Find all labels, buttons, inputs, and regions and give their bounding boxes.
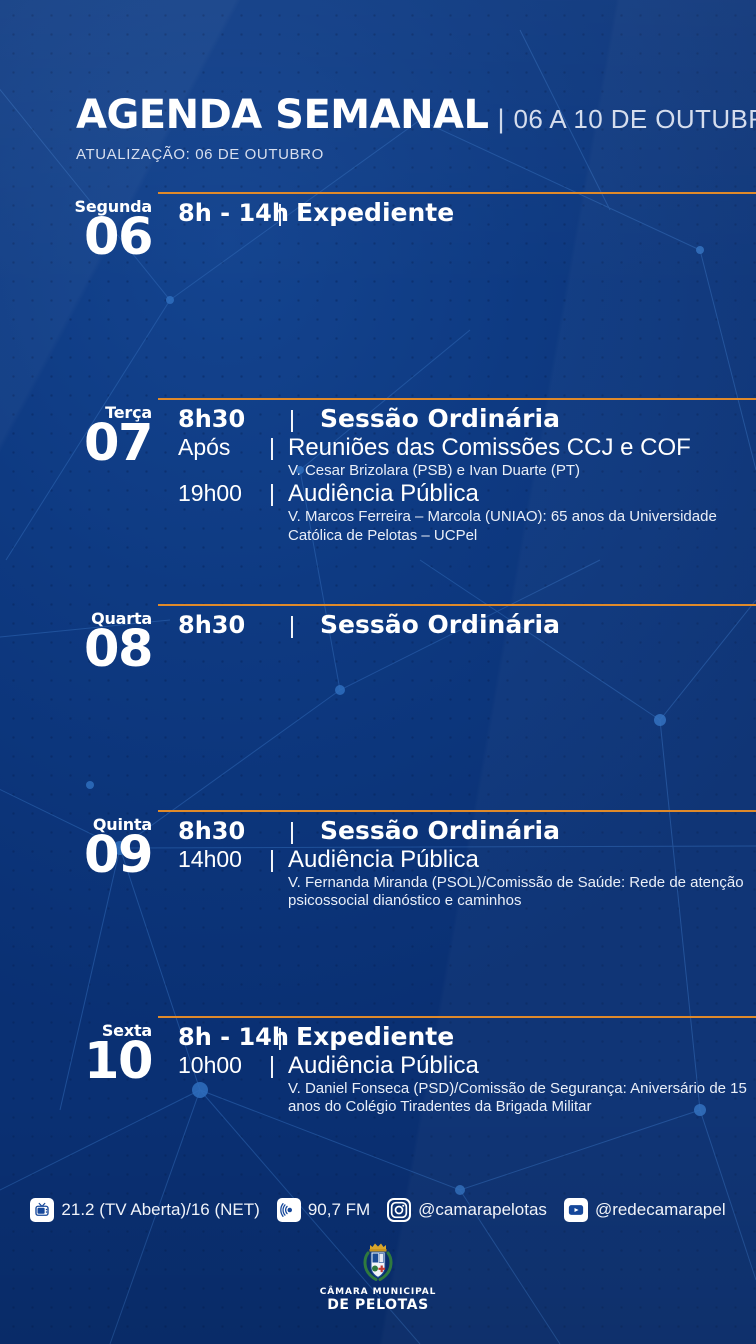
event-time: 8h - 14h	[178, 1023, 264, 1051]
event-note: V. Daniel Fonseca (PSD)/Comissão de Segu…	[288, 1080, 752, 1117]
event-time: 10h00	[178, 1052, 256, 1079]
brand-line-1: CÂMARA MUNICIPAL	[320, 1287, 437, 1297]
day-events: 8h - 14h|Expediente	[178, 198, 752, 228]
event-item: 8h - 14h|Expediente	[178, 198, 752, 228]
event-time: 8h - 14h	[178, 199, 264, 227]
brand-block: CÂMARA MUNICIPAL DE PELOTAS	[0, 1240, 756, 1313]
event-title: Expediente	[296, 198, 454, 228]
event-item: 14h00|Audiência Pública	[178, 846, 752, 874]
row-divider	[158, 810, 756, 812]
day-number: 10	[0, 1038, 152, 1086]
event-item: Após|Reuniões das Comissões CCJ e COF	[178, 434, 752, 462]
event-time: 19h00	[178, 480, 256, 507]
social-label: @redecamarapel	[595, 1200, 726, 1220]
header: AGENDA SEMANAL | 06 A 10 DE OUTUBRO | AT…	[76, 95, 756, 163]
event-separator: |	[256, 1052, 288, 1079]
event-item: 10h00|Audiência Pública	[178, 1052, 752, 1080]
brand-line-2: DE PELOTAS	[327, 1297, 429, 1313]
event-title: Expediente	[296, 1022, 454, 1052]
day-column: Quinta09	[0, 816, 152, 880]
pelotas-coat-of-arms-icon	[361, 1240, 395, 1284]
day-events: 8h30|Sessão Ordinária14h00|Audiência Púb…	[178, 816, 752, 910]
row-divider	[158, 1016, 756, 1018]
day-number: 08	[0, 626, 152, 674]
day-events: 8h30|Sessão OrdináriaApós|Reuniões das C…	[178, 404, 752, 545]
event-title: Audiência Pública	[288, 1052, 479, 1080]
event-title: Audiência Pública	[288, 846, 479, 874]
day-number: 09	[0, 832, 152, 880]
event-separator: |	[264, 200, 296, 227]
page-title: AGENDA SEMANAL	[76, 95, 489, 135]
social-label: 21.2 (TV Aberta)/16 (NET)	[61, 1200, 259, 1220]
social-item[interactable]: @camarapelotas	[387, 1198, 547, 1222]
day-number: 07	[0, 420, 152, 468]
day-column: Quarta08	[0, 610, 152, 674]
social-label: 90,7 FM	[308, 1200, 370, 1220]
day-row: Sexta108h - 14h|Expediente10h00|Audiênci…	[0, 1016, 756, 1222]
day-column: Terça07	[0, 404, 152, 468]
event-separator: |	[264, 406, 320, 433]
instagram-icon[interactable]	[387, 1198, 411, 1222]
day-column: Sexta10	[0, 1022, 152, 1086]
event-title: Sessão Ordinária	[320, 404, 560, 434]
event-time: Após	[178, 434, 256, 461]
event-time: 8h30	[178, 405, 264, 433]
social-item[interactable]: 21.2 (TV Aberta)/16 (NET)	[30, 1198, 259, 1222]
social-item[interactable]: 90,7 FM	[277, 1198, 370, 1222]
event-separator: |	[264, 818, 320, 845]
event-time: 14h00	[178, 846, 256, 873]
event-separator: |	[256, 434, 288, 461]
header-separator: |	[498, 106, 505, 133]
event-separator: |	[256, 846, 288, 873]
event-separator: |	[264, 612, 320, 639]
youtube-icon[interactable]	[564, 1198, 588, 1222]
day-events: 8h - 14h|Expediente10h00|Audiência Públi…	[178, 1022, 752, 1116]
event-title: Sessão Ordinária	[320, 610, 560, 640]
event-note: V. Cesar Brizolara (PSB) e Ivan Duarte (…	[288, 462, 752, 480]
social-item[interactable]: @redecamarapel	[564, 1198, 726, 1222]
radio-icon[interactable]	[277, 1198, 301, 1222]
event-separator: |	[264, 1024, 296, 1051]
event-note: V. Fernanda Miranda (PSOL)/Comissão de S…	[288, 874, 752, 911]
footer: 21.2 (TV Aberta)/16 (NET)90,7 FM@camarap…	[0, 1198, 756, 1313]
event-title: Reuniões das Comissões CCJ e COF	[288, 434, 691, 462]
day-column: Segunda06	[0, 198, 152, 262]
event-title: Sessão Ordinária	[320, 816, 560, 846]
event-time: 8h30	[178, 611, 264, 639]
social-links: 21.2 (TV Aberta)/16 (NET)90,7 FM@camarap…	[0, 1198, 756, 1222]
tv-icon[interactable]	[30, 1198, 54, 1222]
event-note: V. Marcos Ferreira – Marcola (UNIAO): 65…	[288, 508, 752, 545]
row-divider	[158, 398, 756, 400]
event-item: 8h - 14h|Expediente	[178, 1022, 752, 1052]
day-row: Quinta098h30|Sessão Ordinária14h00|Audiê…	[0, 810, 756, 1016]
agenda-poster: AGENDA SEMANAL | 06 A 10 DE OUTUBRO | AT…	[0, 0, 756, 1344]
social-label: @camarapelotas	[418, 1200, 547, 1220]
event-item: 19h00|Audiência Pública	[178, 480, 752, 508]
event-item: 8h30|Sessão Ordinária	[178, 816, 752, 846]
update-label: ATUALIZAÇÃO: 06 DE OUTUBRO	[76, 146, 756, 163]
day-row: Terça078h30|Sessão OrdináriaApós|Reuniõe…	[0, 398, 756, 604]
event-title: Audiência Pública	[288, 480, 479, 508]
date-range: 06 A 10 DE OUTUBRO	[514, 106, 756, 132]
day-events: 8h30|Sessão Ordinária	[178, 610, 752, 640]
event-item: 8h30|Sessão Ordinária	[178, 404, 752, 434]
day-number: 06	[0, 214, 152, 262]
event-time: 8h30	[178, 817, 264, 845]
row-divider	[158, 604, 756, 606]
event-item: 8h30|Sessão Ordinária	[178, 610, 752, 640]
event-separator: |	[256, 480, 288, 507]
day-row: Quarta088h30|Sessão Ordinária	[0, 604, 756, 810]
row-divider	[158, 192, 756, 194]
day-row: Segunda068h - 14h|Expediente	[0, 192, 756, 398]
